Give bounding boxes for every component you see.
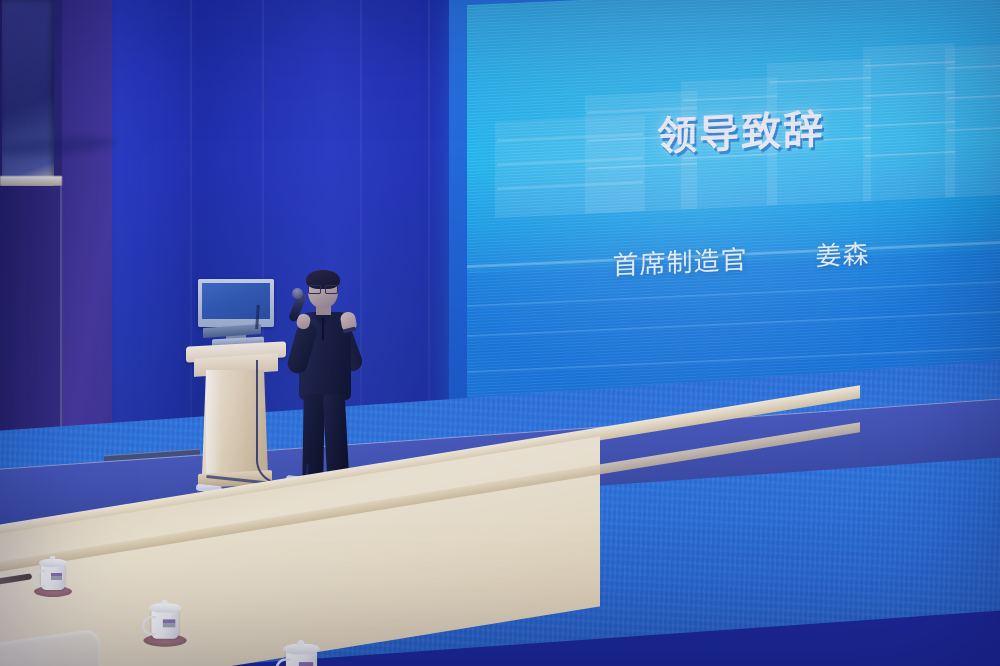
cup-handle	[142, 616, 156, 635]
photo-scene: 领导致辞 首席制造官 姜森	[0, 0, 1000, 666]
tea-cup	[38, 556, 68, 592]
cup-handle	[33, 570, 45, 587]
monitor-screen	[202, 283, 270, 319]
speaker	[291, 272, 361, 490]
podium-monitor	[198, 279, 274, 327]
tea-cup	[148, 600, 182, 641]
slide-speaker-name: 姜森	[816, 234, 870, 273]
lit-alcove	[2, 0, 54, 186]
tea-cup	[282, 640, 321, 666]
cup-logo	[163, 619, 176, 627]
podium-highlight	[206, 370, 222, 476]
cup-logo	[51, 573, 62, 580]
cup-lid-knob	[162, 600, 168, 607]
cup-lid-knob	[50, 556, 55, 562]
glasses-icon	[308, 285, 338, 292]
slide-role-label: 首席制造官	[612, 239, 747, 282]
alcove-lip	[0, 176, 62, 186]
speaker-shirt-placket	[322, 318, 324, 340]
cup-lid-knob	[298, 640, 305, 648]
cup-logo	[299, 662, 313, 666]
